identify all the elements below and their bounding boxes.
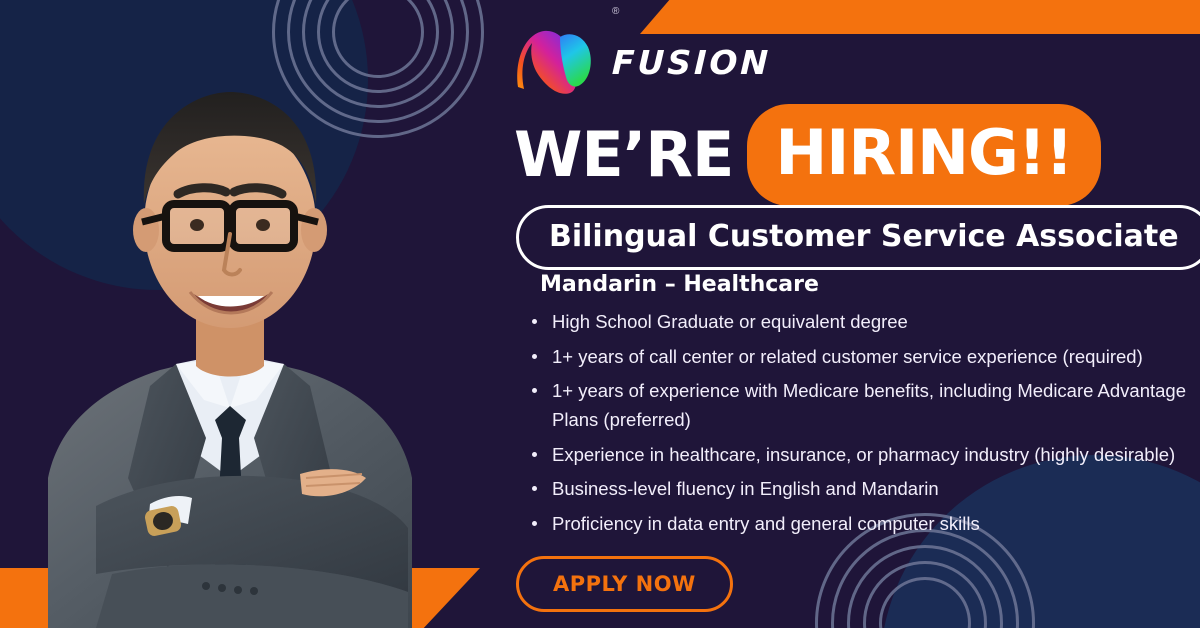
requirements-list: High School Graduate or equivalent degre…: [526, 308, 1186, 545]
apply-now-button[interactable]: APPLY NOW: [516, 556, 733, 612]
fusion-butterfly-logo-icon: [514, 27, 606, 97]
list-item: Business-level fluency in English and Ma…: [526, 475, 1186, 504]
job-subtitle: Mandarin – Healthcare: [540, 272, 819, 297]
list-item: High School Graduate or equivalent degre…: [526, 308, 1186, 337]
list-item: Experience in healthcare, insurance, or …: [526, 441, 1186, 470]
registered-trademark-icon: ®: [612, 6, 619, 17]
content-column: FUSION ® WE’RE HIRING!! Bilingual Custom…: [508, 0, 1188, 628]
job-title: Bilingual Customer Service Associate: [549, 219, 1179, 254]
headline-highlight-badge: HIRING!!: [747, 104, 1100, 206]
hiring-banner: FUSION ® WE’RE HIRING!! Bilingual Custom…: [0, 0, 1200, 628]
brand-wordmark: FUSION ®: [612, 46, 771, 79]
headline-lead: WE’RE: [514, 124, 747, 186]
brand-logo: FUSION ®: [514, 26, 771, 98]
brand-name: FUSION: [611, 46, 771, 79]
list-item: 1+ years of experience with Medicare ben…: [526, 377, 1186, 434]
headline: WE’RE HIRING!!: [514, 104, 1101, 206]
job-title-pill: Bilingual Customer Service Associate: [516, 205, 1200, 270]
list-item: Proficiency in data entry and general co…: [526, 510, 1186, 539]
list-item: 1+ years of call center or related custo…: [526, 343, 1186, 372]
apply-now-label: APPLY NOW: [553, 572, 696, 596]
businessman-photo: [0, 8, 460, 628]
